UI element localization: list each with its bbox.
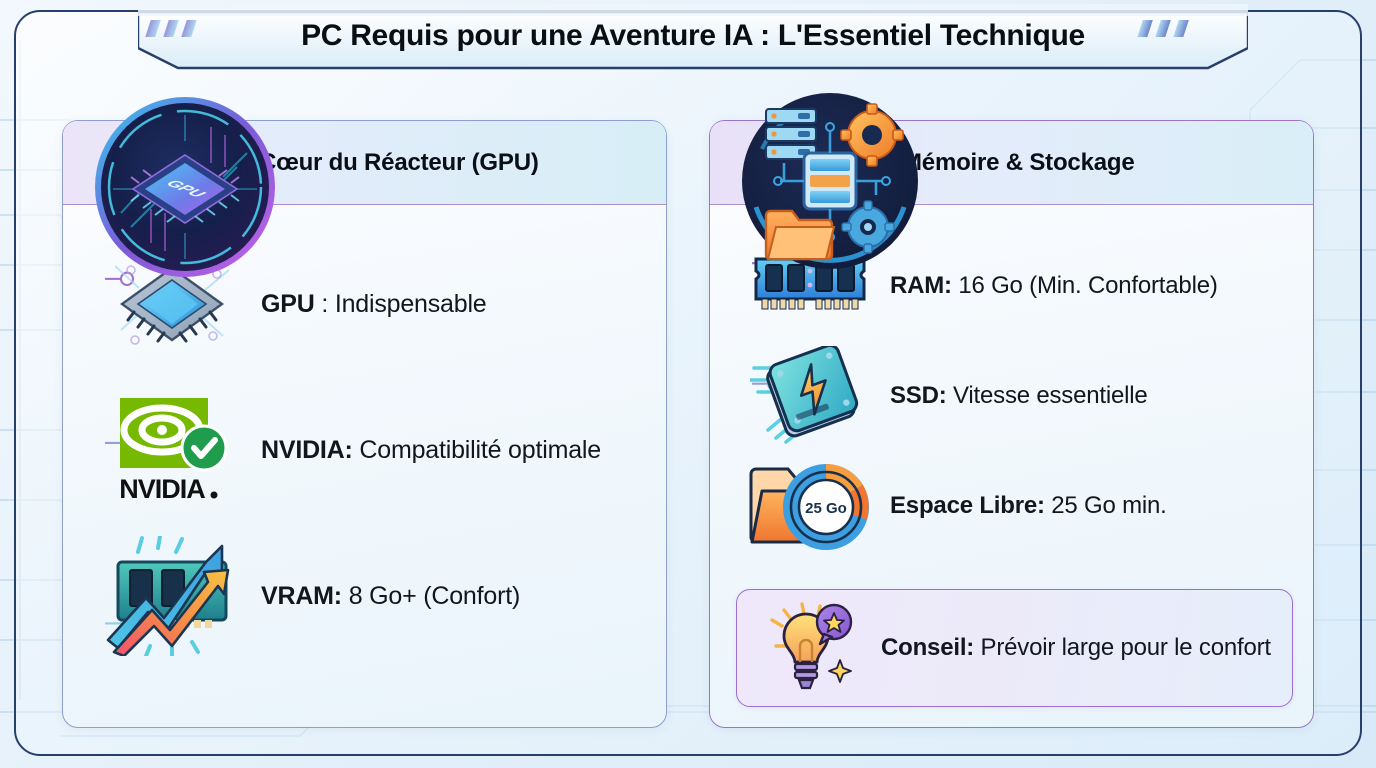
list-item-value: 8 Go+ (Confort) <box>349 582 520 610</box>
gpu-chip-badge-icon: GPU <box>91 93 279 281</box>
list-item[interactable]: NVIDIA NVIDIA: Compatibilité optimale <box>97 377 648 523</box>
panel-gpu: Cœur du Réacteur (GPU) <box>62 120 667 728</box>
list-item[interactable]: 25 Go Espace Libre: 25 Go min. <box>744 451 1295 561</box>
donut-label: 25 Go <box>805 500 847 517</box>
list-item-text: GPU : Indispensable <box>261 289 487 320</box>
list-item-text: Espace Libre: 25 Go min. <box>890 491 1167 521</box>
panel-gpu-title: Cœur du Réacteur (GPU) <box>259 149 539 177</box>
lightbulb-star-icon <box>751 602 873 694</box>
list-item-text: NVIDIA: Compatibilité optimale <box>261 435 601 466</box>
list-item-text: RAM: 16 Go (Min. Confortable) <box>890 271 1218 301</box>
list-item-value: Indispensable <box>335 290 487 318</box>
list-item-value: 16 Go (Min. Confortable) <box>958 272 1217 299</box>
ssd-bolt-icon <box>744 346 876 446</box>
list-item[interactable]: VRAM: 8 Go+ (Confort) <box>97 523 648 669</box>
svg-text:NVIDIA: NVIDIA <box>119 474 205 504</box>
list-item-separator <box>342 582 349 610</box>
list-item[interactable]: SSD: Vitesse essentielle <box>744 341 1295 451</box>
list-item-text: VRAM: 8 Go+ (Confort) <box>261 581 520 612</box>
panels-container: Cœur du Réacteur (GPU) <box>62 120 1314 728</box>
tip-text: Conseil: Prévoir large pour le confort <box>881 633 1271 663</box>
list-item-label: Espace Libre: <box>890 492 1045 519</box>
folder-donut-icon: 25 Go <box>744 459 876 554</box>
panel-memory: Mémoire & Stockage <box>709 120 1314 728</box>
tip-value: Prévoir large pour le confort <box>981 634 1271 661</box>
list-item-label: RAM: <box>890 272 952 299</box>
list-item-value: Compatibilité optimale <box>359 436 601 464</box>
nvidia-logo-icon: NVIDIA <box>97 390 247 510</box>
list-item-separator: : <box>315 290 335 318</box>
vram-growth-icon <box>97 536 247 656</box>
list-item-label: SSD: <box>890 382 947 409</box>
tip-box[interactable]: Conseil: Prévoir large pour le confort <box>736 589 1293 707</box>
tip-label: Conseil: <box>881 634 974 661</box>
page-title: PC Requis pour une Aventure IA : L'Essen… <box>138 4 1248 70</box>
panel-memory-title: Mémoire & Stockage <box>902 149 1134 177</box>
list-item-label: GPU <box>261 290 315 318</box>
storage-network-badge-icon <box>740 91 920 271</box>
list-item-label: VRAM: <box>261 582 342 610</box>
list-item-text: SSD: Vitesse essentielle <box>890 381 1148 411</box>
list-item-value: 25 Go min. <box>1051 492 1166 519</box>
title-banner: PC Requis pour une Aventure IA : L'Essen… <box>138 4 1248 70</box>
list-item-value: Vitesse essentielle <box>953 382 1148 409</box>
list-item-label: NVIDIA: <box>261 436 353 464</box>
